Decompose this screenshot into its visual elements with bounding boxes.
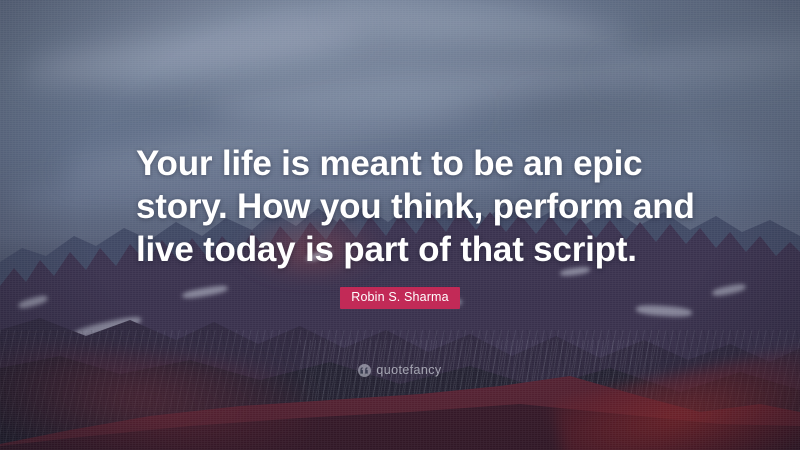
author-badge[interactable]: Robin S. Sharma: [340, 287, 459, 309]
quotefancy-watermark[interactable]: quotefancy: [0, 364, 800, 377]
quote-mark-badge-icon: [358, 364, 371, 377]
quote-text: Your life is meant to be an epic story. …: [136, 142, 696, 271]
author-attribution: Robin S. Sharma: [0, 287, 800, 309]
quote-poster: Your life is meant to be an epic story. …: [0, 0, 800, 450]
quotefancy-brand-label: quotefancy: [376, 364, 441, 377]
poster-content: Your life is meant to be an epic story. …: [0, 0, 800, 450]
